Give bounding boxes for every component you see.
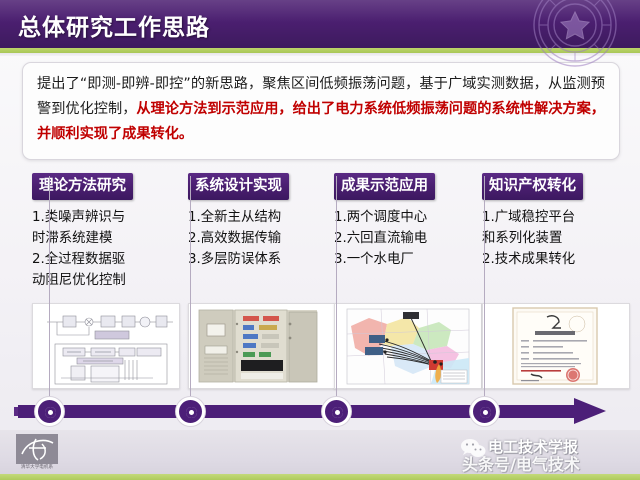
column-demonstration-application: 成果示范应用 1.两个调度中心 2.六回直流输电 3.一个水电厂 bbox=[334, 173, 480, 393]
column-line: 3.一个水电厂 bbox=[334, 249, 480, 270]
timeline-node-0[interactable] bbox=[35, 397, 64, 426]
column-line: 1.广域稳控平台 bbox=[482, 207, 628, 228]
timeline-bar bbox=[18, 405, 588, 418]
column-line: 2.高效数据传输 bbox=[188, 228, 334, 249]
column-ip-transformation: 知识产权转化 1.广域稳控平台 和系列化装置 2.技术成果转化 bbox=[482, 173, 628, 393]
equipment-cabinet-photo-thumbnail bbox=[188, 303, 336, 389]
column-system-design: 系统设计实现 1.全新主从结构 2.高效数据传输 3.多层防误体系 bbox=[188, 173, 334, 393]
column-title-0: 理论方法研究 bbox=[32, 173, 133, 200]
column-title-2: 成果示范应用 bbox=[334, 173, 435, 200]
timeline-node-1[interactable] bbox=[176, 397, 205, 426]
summary-textbox: 提出了“即测-即辨-即控”的新思路，聚焦区间低频振荡问题，基于广域实测数据，从监… bbox=[22, 62, 620, 160]
column-body-1: 1.全新主从结构 2.高效数据传输 3.多层防误体系 bbox=[188, 207, 334, 270]
timeline-node-2[interactable] bbox=[322, 397, 351, 426]
column-line: 时滞系统建模 bbox=[32, 228, 178, 249]
watermark-toutiao-account: 头条号/电气技术 bbox=[462, 451, 580, 475]
timeline-node-3[interactable] bbox=[470, 397, 499, 426]
slide-root: TSI NGH 总体研究工作思路 提出了“即测-即辨-即控”的新思路，聚焦区间低… bbox=[0, 0, 640, 480]
column-line: 2.技术成果转化 bbox=[482, 249, 628, 270]
page-title: 总体研究工作思路 bbox=[18, 8, 210, 42]
column-line: 3.多层防误体系 bbox=[188, 249, 334, 270]
connector-line-3 bbox=[484, 176, 485, 404]
column-body-3: 1.广域稳控平台 和系列化装置 2.技术成果转化 bbox=[482, 207, 628, 270]
column-title-3: 知识产权转化 bbox=[482, 173, 583, 200]
logo-mark-icon bbox=[16, 434, 58, 464]
column-line: 1.类噪声辨识与 bbox=[32, 207, 178, 228]
footer-green-accent bbox=[0, 474, 640, 480]
column-theory-research: 理论方法研究 1.类噪声辨识与 时滞系统建模 2.全过程数据驱 动阻尼优化控制 bbox=[32, 173, 178, 393]
summary-text: 提出了“即测-即辨-即控”的新思路，聚焦区间低频振荡问题，基于广域实测数据，从监… bbox=[37, 72, 605, 147]
patent-certificate-thumbnail bbox=[482, 303, 630, 389]
tsinghua-seal-icon: TSI NGH bbox=[532, 0, 618, 68]
power-grid-map-thumbnail bbox=[334, 303, 482, 389]
tsinghua-ee-logo: 清华大学电机系 bbox=[8, 434, 66, 474]
column-line: 和系列化装置 bbox=[482, 228, 628, 249]
column-line: 2.全过程数据驱 bbox=[32, 249, 178, 270]
connector-line-0 bbox=[49, 176, 50, 404]
column-title-1: 系统设计实现 bbox=[188, 173, 289, 200]
timeline-arrowhead-icon bbox=[574, 398, 606, 424]
column-line: 1.全新主从结构 bbox=[188, 207, 334, 228]
column-line: 2.六回直流输电 bbox=[334, 228, 480, 249]
connector-line-1 bbox=[190, 176, 191, 404]
column-body-0: 1.类噪声辨识与 时滞系统建模 2.全过程数据驱 动阻尼优化控制 bbox=[32, 207, 178, 291]
column-body-2: 1.两个调度中心 2.六回直流输电 3.一个水电厂 bbox=[334, 207, 480, 270]
column-line: 动阻尼优化控制 bbox=[32, 270, 178, 291]
process-columns: 理论方法研究 1.类噪声辨识与 时滞系统建模 2.全过程数据驱 动阻尼优化控制 bbox=[0, 173, 640, 393]
control-block-diagram-thumbnail bbox=[32, 303, 180, 389]
column-line: 1.两个调度中心 bbox=[334, 207, 480, 228]
connector-line-2 bbox=[336, 176, 337, 404]
process-timeline bbox=[14, 392, 628, 430]
watermark-group: 电工技术学报 头条号/电气技术 bbox=[454, 436, 634, 478]
